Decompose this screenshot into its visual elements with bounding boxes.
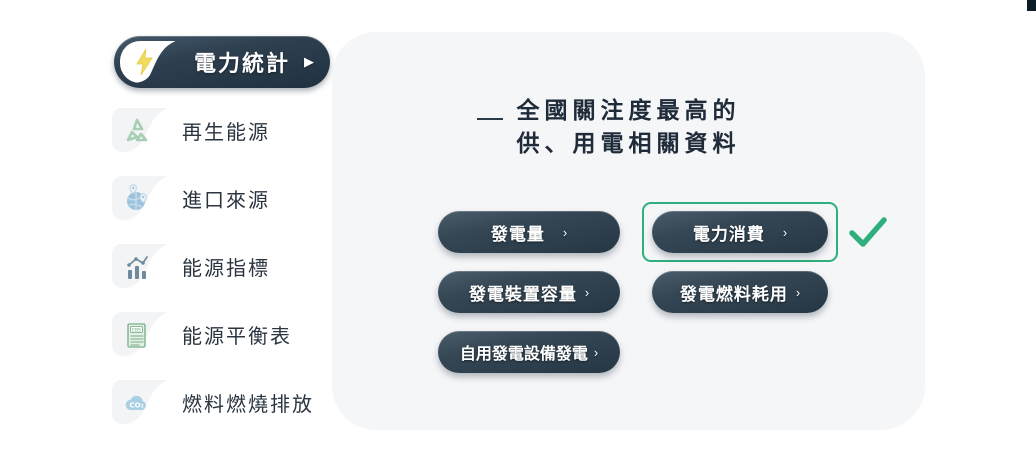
active-icon-wrap [120,41,176,83]
lightning-bolt-icon [136,49,153,75]
icon-tile: EBS [112,312,168,356]
bar-chart-trend-icon [122,252,152,282]
app-screen: 電力統計 ▶ 再生能源 [0,0,1036,465]
content-panel: 全國關注度最高的 供、用電相關資料 發電量 › [332,32,925,430]
button-self-use-generation[interactable]: 自用發電設備發電 › [438,331,620,373]
sidebar-item-renewable-energy[interactable]: 再生能源 [112,100,332,160]
page-title: 全國關注度最高的 供、用電相關資料 [332,94,925,161]
slot-capacity: 發電裝置容量 › [438,271,620,313]
slot-fuel: 發電燃料耗用 › [652,271,828,313]
sidebar-item-label: 燃料燃燒排放 [182,388,314,417]
sidebar-item-label: 能源平衡表 [182,320,292,349]
chevron-right-icon: › [594,345,598,360]
button-row-3: 自用發電設備發電 › [438,328,888,376]
button-installed-capacity[interactable]: 發電裝置容量 › [438,271,620,313]
sidebar-item-import-source[interactable]: 進口來源 [112,168,332,228]
svg-text:CO₂: CO₂ [130,402,144,410]
co2-cloud-icon: CO₂ [122,388,152,418]
button-row-2: 發電裝置容量 › 發電燃料耗用 › [438,268,888,316]
sidebar-nav: 電力統計 ▶ 再生能源 [0,0,332,465]
chevron-right-icon: › [783,225,787,240]
button-label: 發電裝置容量 [469,280,577,305]
title-line-1: 全國關注度最高的 [332,94,925,127]
document-ebs-icon: EBS [122,320,152,350]
slot-consumption: 電力消費 › [652,211,888,253]
sidebar-item-label: 進口來源 [182,184,270,213]
sidebar-item-label: 再生能源 [182,116,270,145]
button-label: 發電量 [491,220,545,245]
button-label: 自用發電設備發電 [460,340,588,364]
chevron-right-icon: › [796,285,800,300]
chevron-right-icon: › [563,225,567,240]
decorative-dash-left [477,118,503,120]
scrollbar-corner-artifact [1027,0,1036,11]
icon-tile: CO₂ [112,380,168,424]
button-label: 電力消費 [693,220,765,245]
button-fuel-consumption[interactable]: 發電燃料耗用 › [652,271,828,313]
chevron-right-icon: › [585,285,589,300]
title-text-line1: 全國關注度最高的 [517,94,741,127]
category-button-grid: 發電量 › 電力消費 › [438,208,888,388]
button-electricity-consumption[interactable]: 電力消費 › [652,211,828,253]
title-line-2: 供、用電相關資料 [332,127,925,160]
button-row-1: 發電量 › 電力消費 › [438,208,888,256]
title-text-line2: 供、用電相關資料 [517,127,741,160]
chevron-right-icon: ▶ [304,54,314,70]
button-label: 發電燃料耗用 [680,280,788,305]
sidebar-item-electricity-statistics[interactable]: 電力統計 ▶ [114,36,330,88]
svg-text:EBS: EBS [132,327,141,333]
icon-tile [112,108,168,152]
checkmark-icon [848,215,888,249]
icon-tile [112,244,168,288]
button-power-generation[interactable]: 發電量 › [438,211,620,253]
sidebar-active-label: 電力統計 [176,46,304,78]
globe-location-icon [122,184,152,214]
sidebar-item-energy-balance-sheet[interactable]: EBS 能源平衡表 [112,304,332,364]
recycle-icon [122,116,152,146]
sidebar-item-energy-indicator[interactable]: 能源指標 [112,236,332,296]
slot-generation: 發電量 › [438,211,620,253]
icon-tile [112,176,168,220]
sidebar-item-label: 能源指標 [182,252,270,281]
sidebar-item-fuel-combustion-emissions[interactable]: CO₂ 燃料燃燒排放 [112,372,332,432]
selection-highlight-box: 電力消費 › [642,202,838,262]
slot-self-generation: 自用發電設備發電 › [438,331,620,373]
